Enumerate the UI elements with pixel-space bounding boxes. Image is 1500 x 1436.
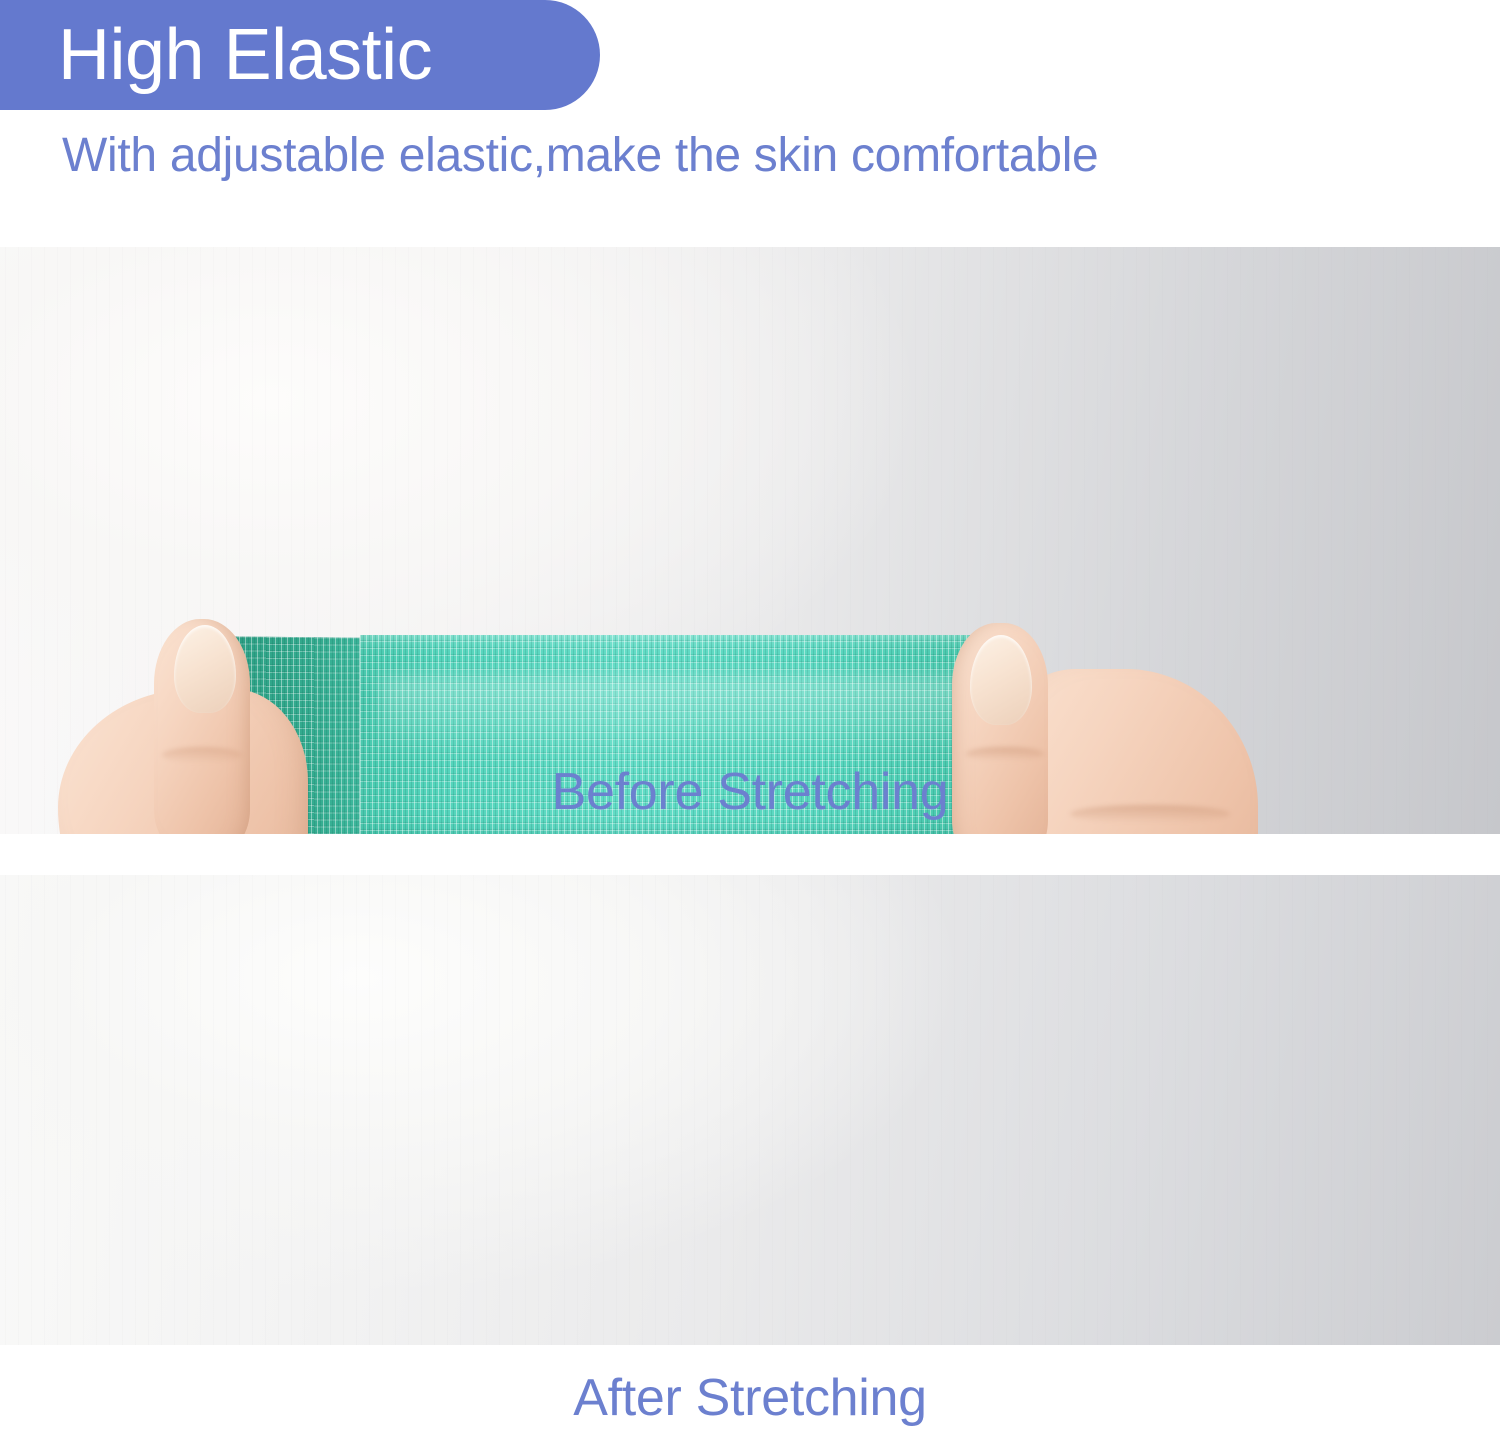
- photo-after-stretching: [0, 875, 1500, 1345]
- caption-before-stretching: Before Stretching: [0, 762, 1500, 822]
- title-banner: High Elastic: [0, 0, 600, 110]
- wall-texture: [0, 875, 1500, 1345]
- page-title: High Elastic: [0, 19, 432, 91]
- finger-crease: [966, 747, 1044, 761]
- knuckle-crease: [162, 747, 242, 763]
- subtitle-text: With adjustable elastic,make the skin co…: [62, 128, 1098, 184]
- caption-after-stretching: After Stretching: [0, 1368, 1500, 1428]
- photo-before-stretching: [0, 247, 1500, 834]
- header-section: High Elastic With adjustable elastic,mak…: [0, 0, 1500, 247]
